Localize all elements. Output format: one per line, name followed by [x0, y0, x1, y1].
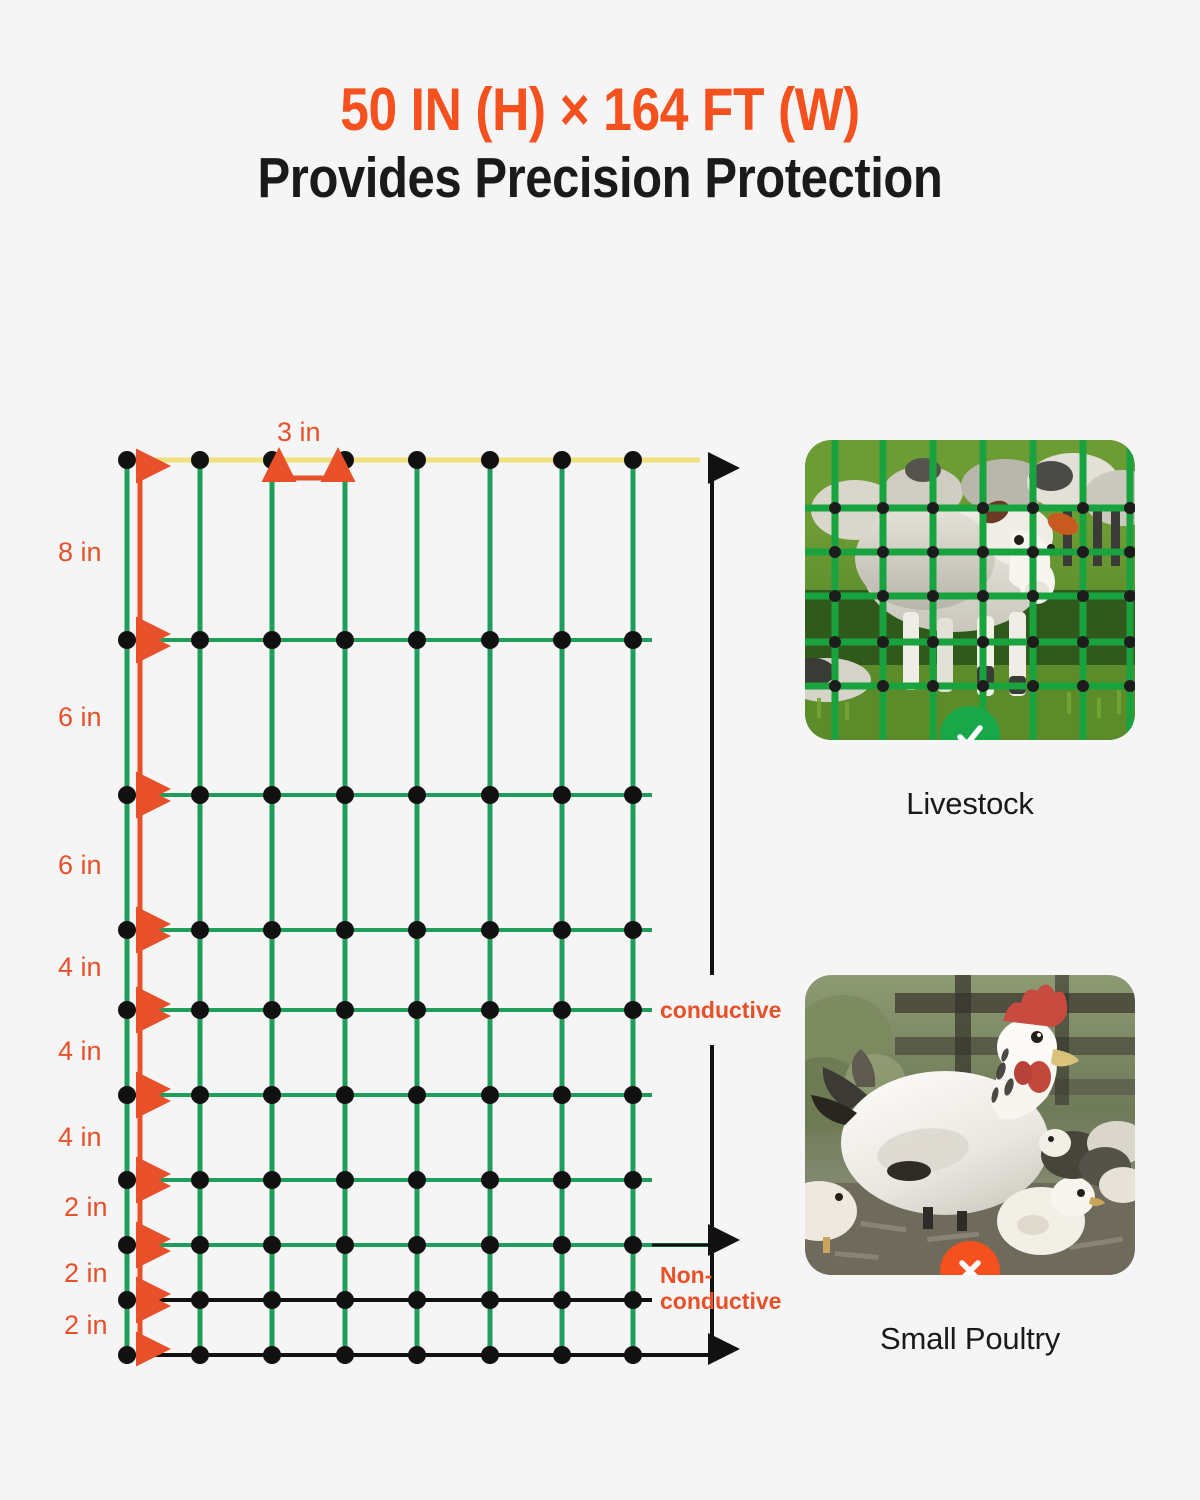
dimension-label-8: 2 in	[64, 1310, 108, 1341]
card-livestock[interactable]: Livestock	[805, 440, 1135, 822]
nonconductive-label-line1: Non-	[660, 1262, 712, 1288]
dimension-label-4: 4 in	[58, 1036, 102, 1067]
poultry-photo	[805, 975, 1135, 1275]
livestock-photo-svg	[805, 440, 1135, 740]
horizontal-spacing-label: 3 in	[277, 417, 321, 448]
dimension-label-7: 2 in	[64, 1258, 108, 1289]
poultry-photo-svg	[805, 975, 1135, 1275]
page-root: 50 IN (H) × 164 FT (W) Provides Precisio…	[0, 0, 1200, 1500]
vertical-strands	[127, 460, 633, 1355]
dimension-label-5: 4 in	[58, 1122, 102, 1153]
nonconductive-label: Non- conductive	[660, 1262, 810, 1315]
dimension-label-6: 2 in	[64, 1192, 108, 1223]
dimension-label-2: 6 in	[58, 850, 102, 881]
dimension-label-1: 6 in	[58, 702, 102, 733]
livestock-photo	[805, 440, 1135, 740]
poultry-caption: Small Poultry	[805, 1321, 1135, 1357]
fence-spec-diagram: 8 in 6 in 6 in 4 in 4 in 4 in 2 in 2 in …	[0, 0, 780, 1500]
conductive-label: conductive	[660, 997, 781, 1023]
card-small-poultry[interactable]: Small Poultry	[805, 975, 1135, 1357]
dimension-label-0: 8 in	[58, 537, 102, 568]
livestock-caption: Livestock	[805, 786, 1135, 822]
nonconductive-label-line2: conductive	[660, 1288, 781, 1314]
dimension-label-3: 4 in	[58, 952, 102, 983]
